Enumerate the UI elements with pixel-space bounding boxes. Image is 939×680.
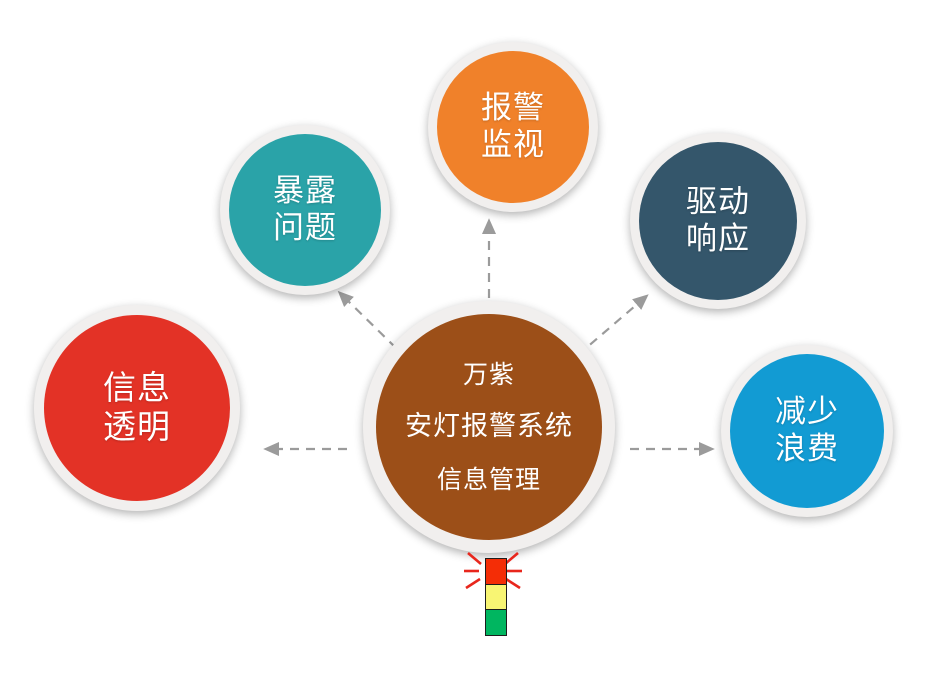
node-reduce-waste-label: 减少 浪费	[775, 394, 839, 467]
node-expose-problems-label: 暴露 问题	[273, 173, 337, 246]
node-reduce-waste[interactable]: 减少 浪费	[721, 345, 893, 517]
node-drive-response-label: 驱动 响应	[686, 184, 750, 257]
connector-up-left	[344, 297, 396, 348]
node-expose-problems[interactable]: 暴露 问题	[220, 125, 390, 295]
connector-up-right	[578, 300, 642, 355]
node-info-transparency-label: 信息 透明	[103, 369, 171, 447]
node-drive-response[interactable]: 驱动 响应	[630, 133, 806, 309]
node-alarm-monitoring[interactable]: 报警 监视	[428, 42, 598, 212]
andon-yellow-lamp	[486, 585, 506, 611]
node-info-transparency[interactable]: 信息 透明	[34, 305, 240, 511]
center-hub-line-3: 信息管理	[437, 465, 541, 495]
center-hub-node[interactable]: 万紫 安灯报警系统 信息管理	[363, 301, 615, 553]
andon-green-lamp	[486, 610, 506, 635]
andon-lamp-stack	[485, 558, 507, 636]
center-hub-label-group: 万紫 安灯报警系统 信息管理	[363, 360, 615, 495]
node-alarm-monitoring-label: 报警 监视	[481, 90, 545, 163]
center-hub-line-2: 安灯报警系统	[405, 411, 573, 465]
center-hub-line-1: 万紫	[463, 360, 515, 412]
diagram-canvas: 万紫 安灯报警系统 信息管理 报警 监视 暴露 问题 驱动 响应 信息 透明 减…	[0, 0, 939, 680]
andon-light-tower-icon	[464, 548, 522, 648]
andon-red-lamp	[486, 559, 506, 585]
